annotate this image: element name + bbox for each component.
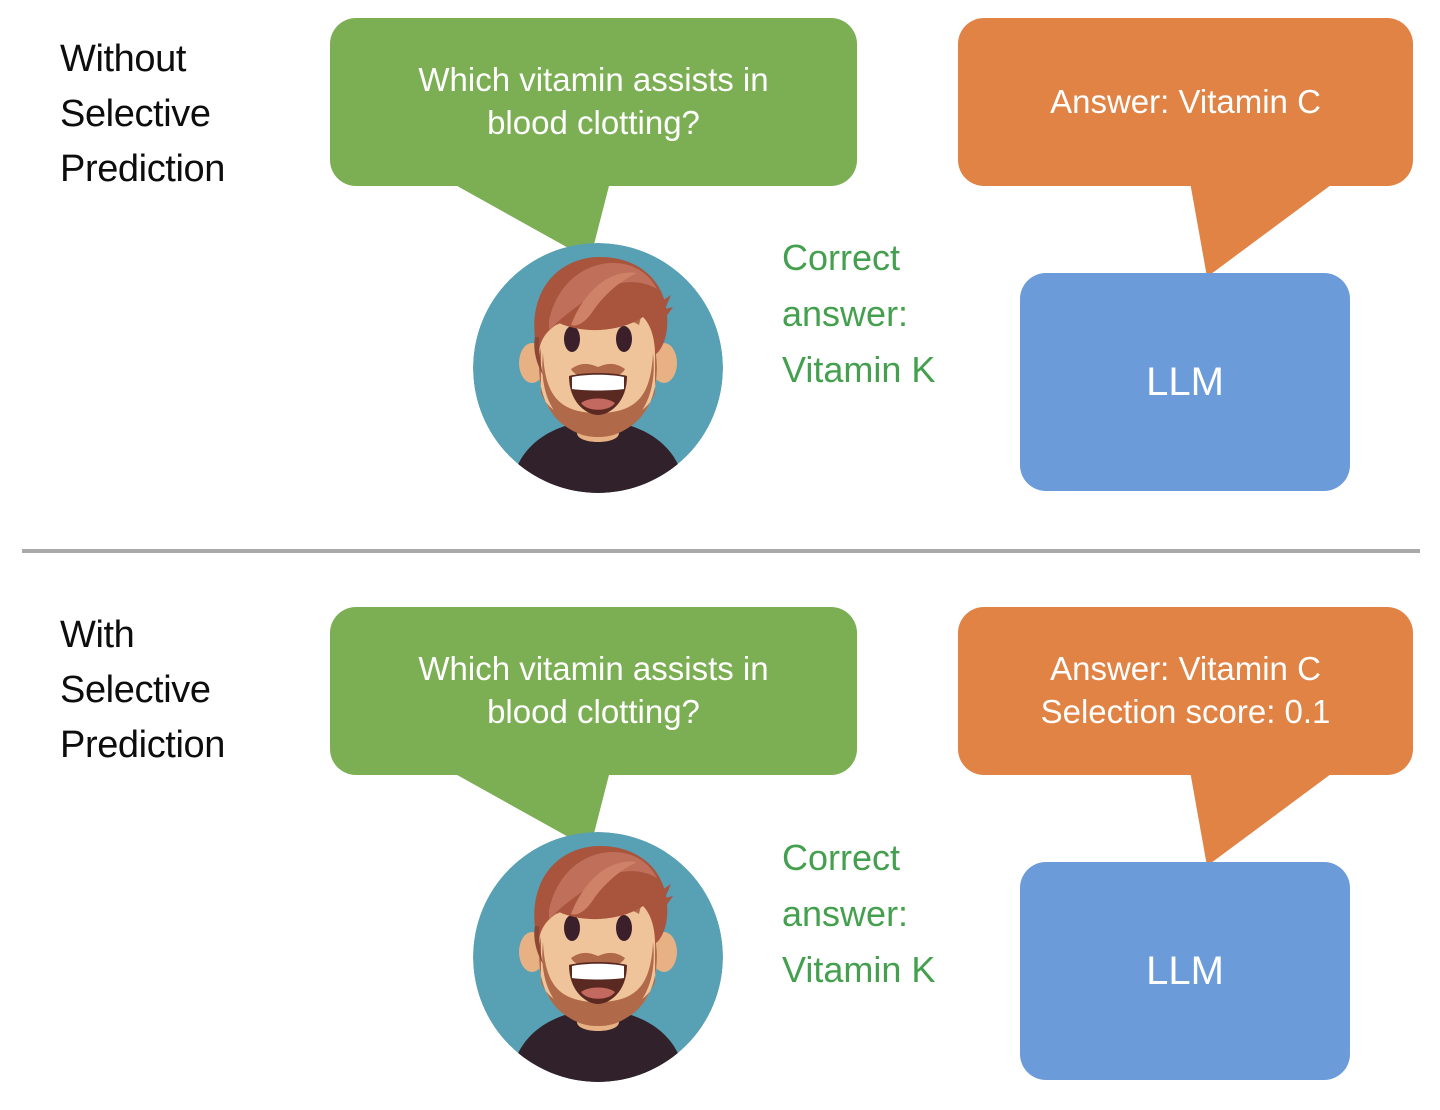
section-divider bbox=[22, 549, 1420, 553]
user-avatar-top bbox=[473, 243, 723, 493]
llm-box-top: LLM bbox=[1020, 273, 1350, 491]
llm-box-top-label: LLM bbox=[1146, 362, 1224, 402]
diagram-canvas: Without Selective Prediction Which vitam… bbox=[0, 0, 1440, 1110]
answer-bubble-bottom-text: Answer: Vitamin C Selection score: 0.1 bbox=[958, 648, 1413, 734]
llm-box-bottom: LLM bbox=[1020, 862, 1350, 1080]
section-label-without-selective-prediction: Without Selective Prediction bbox=[60, 32, 320, 197]
correct-answer-note-top: Correct answer: Vitamin K bbox=[782, 230, 1002, 397]
question-bubble-top: Which vitamin assists in blood clotting? bbox=[330, 18, 857, 186]
user-avatar-bottom bbox=[473, 832, 723, 1082]
answer-bubble-top-text: Answer: Vitamin C bbox=[958, 81, 1413, 124]
answer-bubble-top: Answer: Vitamin C bbox=[958, 18, 1413, 186]
answer-bubble-bottom-tail bbox=[1190, 771, 1390, 871]
answer-bubble-bottom: Answer: Vitamin C Selection score: 0.1 bbox=[958, 607, 1413, 775]
question-bubble-top-text: Which vitamin assists in blood clotting? bbox=[330, 59, 857, 145]
question-bubble-bottom: Which vitamin assists in blood clotting? bbox=[330, 607, 857, 775]
avatar-illustration bbox=[473, 832, 723, 1082]
answer-bubble-top-tail bbox=[1190, 182, 1390, 282]
avatar-illustration bbox=[473, 243, 723, 493]
section-label-with-selective-prediction: With Selective Prediction bbox=[60, 608, 320, 773]
question-bubble-bottom-text: Which vitamin assists in blood clotting? bbox=[330, 648, 857, 734]
correct-answer-note-bottom: Correct answer: Vitamin K bbox=[782, 830, 1002, 997]
llm-box-bottom-label: LLM bbox=[1146, 951, 1224, 991]
